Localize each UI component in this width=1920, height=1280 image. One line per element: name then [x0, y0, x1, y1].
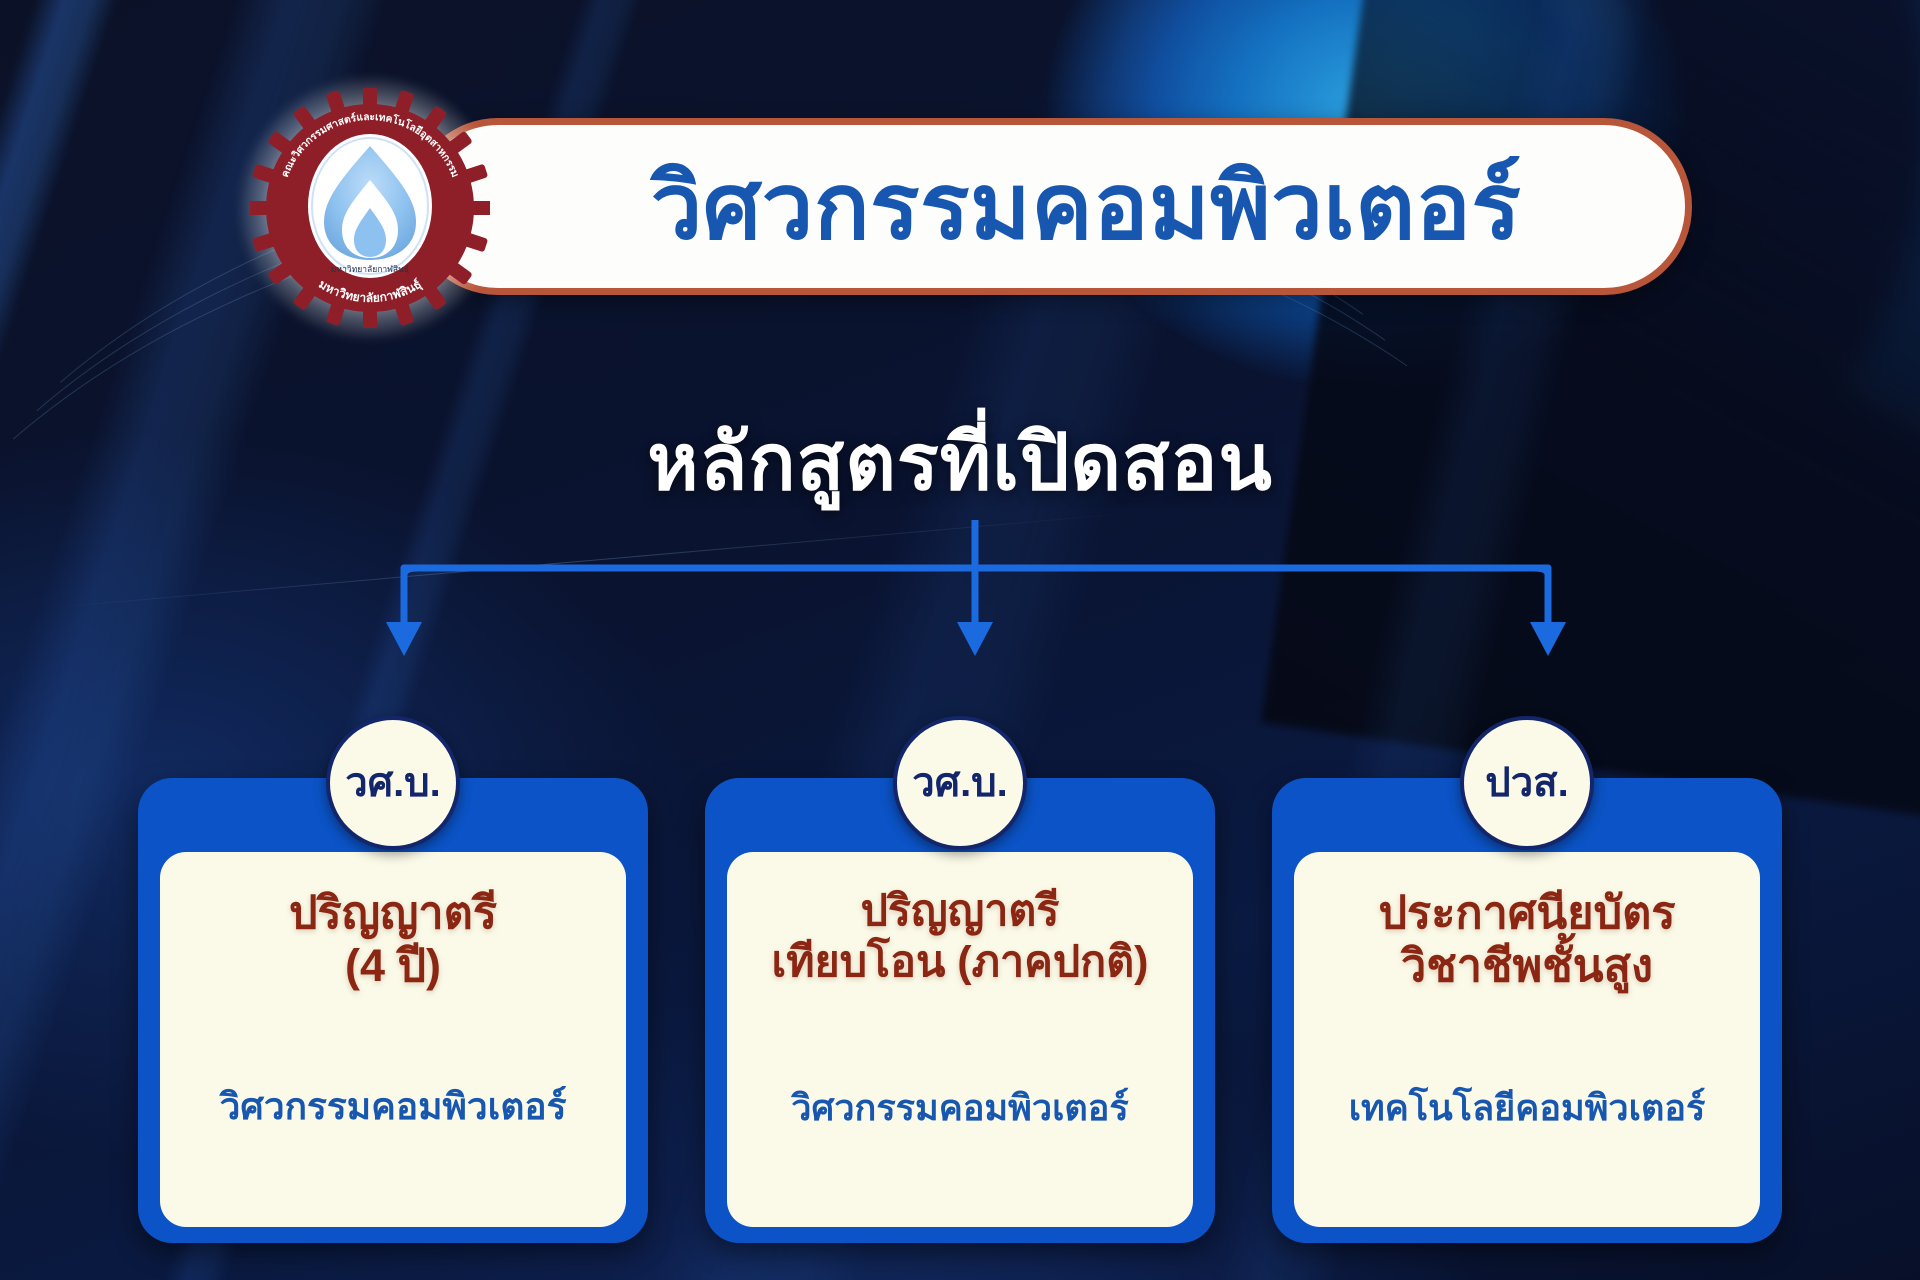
degree-badge-label: วศ.บ. — [345, 763, 440, 803]
arrowhead-left — [386, 622, 422, 656]
title-banner: วิศวกรรมคอมพิวเตอร์ — [410, 118, 1692, 295]
gear-emblem-icon: มหาวิทยาลัยกาฬสินธุ์ คณะวิศวกรรมศาสตร์แล… — [250, 88, 490, 328]
program-name: เทคโนโลยีคอมพิวเตอร์ — [1349, 1086, 1706, 1129]
degree-badge: วศ.บ. — [893, 716, 1027, 850]
card-inner-panel: ปริญญาตรี (4 ปี) วิศวกรรมคอมพิวเตอร์ — [160, 852, 626, 1227]
program-level-title: ปริญญาตรี เทียบโอน (ภาคปกติ) — [772, 886, 1149, 987]
degree-badge-label: ปวส. — [1485, 763, 1568, 803]
university-logo: มหาวิทยาลัยกาฬสินธุ์ คณะวิศวกรรมศาสตร์แล… — [250, 88, 490, 328]
poster-canvas: มหาวิทยาลัยกาฬสินธุ์ คณะวิศวกรรมศาสตร์แล… — [0, 0, 1920, 1280]
header: มหาวิทยาลัยกาฬสินธุ์ คณะวิศวกรรมศาสตร์แล… — [0, 0, 1920, 330]
program-card[interactable]: วศ.บ. ปริญญาตรี เทียบโอน (ภาคปกติ) วิศวก… — [705, 778, 1215, 1243]
degree-badge: วศ.บ. — [326, 716, 460, 850]
degree-badge-label: วศ.บ. — [912, 763, 1007, 803]
section-subtitle: หลักสูตรที่เปิดสอน — [0, 400, 1920, 524]
arrowhead-center — [957, 622, 993, 656]
card-inner-panel: ประกาศนียบัตร วิชาชีพชั้นสูง เทคโนโลยีคอ… — [1294, 852, 1760, 1227]
program-level-title: ปริญญาตรี (4 ปี) — [289, 886, 497, 992]
program-card-list: วศ.บ. ปริญญาตรี (4 ปี) วิศวกรรมคอมพิวเตอ… — [0, 778, 1920, 1243]
program-card[interactable]: วศ.บ. ปริญญาตรี (4 ปี) วิศวกรรมคอมพิวเตอ… — [138, 778, 648, 1243]
page-title: วิศวกรรมคอมพิวเตอร์ — [581, 161, 1522, 253]
arrowhead-right — [1530, 622, 1566, 656]
program-name: วิศวกรรมคอมพิวเตอร์ — [220, 1085, 567, 1129]
degree-badge: ปวส. — [1460, 716, 1594, 850]
program-card[interactable]: ปวส. ประกาศนียบัตร วิชาชีพชั้นสูง เทคโนโ… — [1272, 778, 1782, 1243]
program-name: วิศวกรรมคอมพิวเตอร์ — [791, 1086, 1129, 1129]
connector-arrowheads — [386, 622, 1566, 656]
connector-tree — [0, 520, 1920, 720]
card-inner-panel: ปริญญาตรี เทียบโอน (ภาคปกติ) วิศวกรรมคอม… — [727, 852, 1193, 1227]
program-level-title: ประกาศนียบัตร วิชาชีพชั้นสูง — [1378, 886, 1675, 992]
logo-center-caption: มหาวิทยาลัยกาฬสินธุ์ — [331, 264, 409, 275]
